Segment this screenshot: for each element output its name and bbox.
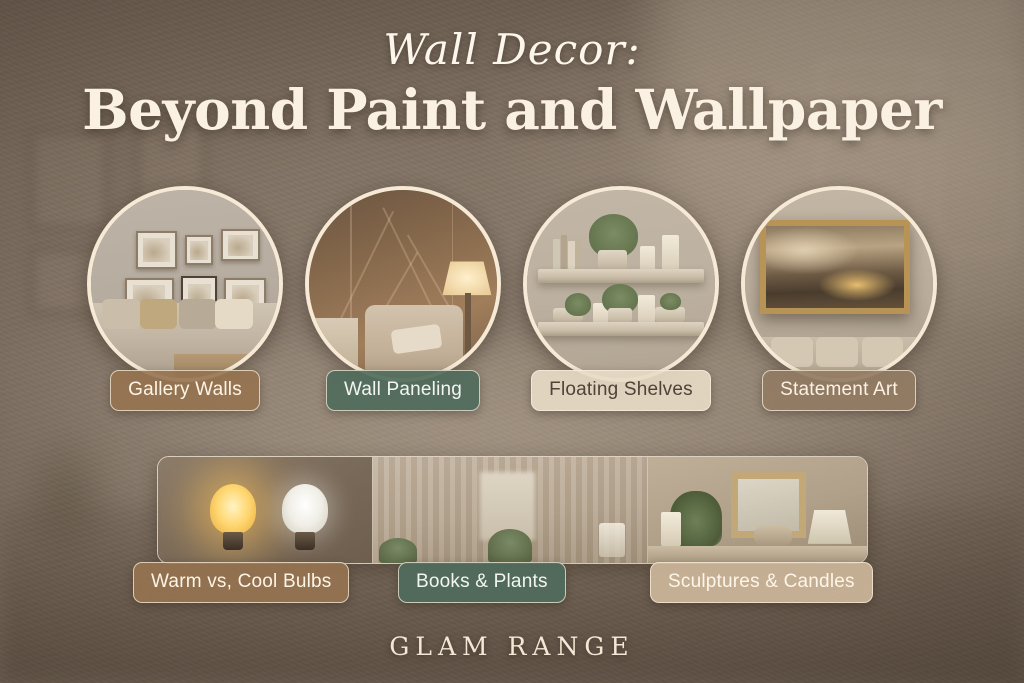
panel-card-row xyxy=(157,456,868,564)
circle-label-wall-paneling[interactable]: Wall Paneling xyxy=(326,370,480,411)
panel-card-books-and-plants[interactable] xyxy=(372,457,646,563)
circle-label-wrap: Floating Shelves xyxy=(531,370,711,411)
wood-paneled-wall-armchair-photo xyxy=(305,186,501,382)
brand-wordmark: GLAM RANGE xyxy=(0,632,1024,661)
gallery-wall-living-room-photo xyxy=(87,186,283,382)
sheer-curtains-window-plants-photo xyxy=(373,457,646,563)
floating-shelves-decor-photo xyxy=(523,186,719,382)
cool-bulb-icon xyxy=(282,484,328,550)
circle-label-floating-shelves[interactable]: Floating Shelves xyxy=(531,370,711,411)
circle-label-wrap: Gallery Walls xyxy=(110,370,260,411)
circle-card-gallery-walls[interactable]: Gallery Walls xyxy=(87,186,283,411)
panel-label-wrap: Warm vs, Cool Bulbs xyxy=(133,562,349,603)
panel-label-wrap: Books & Plants xyxy=(398,562,566,603)
circle-label-wrap: Wall Paneling xyxy=(326,370,480,411)
warm-and-cool-light-bulbs-photo xyxy=(158,457,372,563)
panel-card-sculptures-and-candles[interactable] xyxy=(647,457,867,563)
framed-landscape-painting-photo xyxy=(741,186,937,382)
panel-label-warm-vs-cool-bulbs[interactable]: Warm vs, Cool Bulbs xyxy=(133,562,349,603)
page-title: Wall Decor: Beyond Paint and Wallpaper xyxy=(0,28,1024,141)
circle-card-statement-art[interactable]: Statement Art xyxy=(741,186,937,411)
panel-card-warm-vs-cool-bulbs[interactable] xyxy=(158,457,372,563)
title-main-line: Beyond Paint and Wallpaper xyxy=(0,79,1024,141)
console-table-mirror-decor-photo xyxy=(648,457,867,563)
panel-label-books-and-plants[interactable]: Books & Plants xyxy=(398,562,566,603)
warm-bulb-icon xyxy=(210,484,256,550)
circle-label-gallery-walls[interactable]: Gallery Walls xyxy=(110,370,260,411)
panel-label-sculptures-and-candles[interactable]: Sculptures & Candles xyxy=(650,562,873,603)
circle-label-statement-art[interactable]: Statement Art xyxy=(762,370,916,411)
panel-label-wrap: Sculptures & Candles xyxy=(650,562,873,603)
circle-card-row: Gallery Walls xyxy=(0,186,1024,411)
circle-card-floating-shelves[interactable]: Floating Shelves xyxy=(523,186,719,411)
poster-canvas: Wall Decor: Beyond Paint and Wallpaper xyxy=(0,0,1024,683)
title-script-line: Wall Decor: xyxy=(0,28,1024,72)
circle-label-wrap: Statement Art xyxy=(762,370,916,411)
circle-card-wall-paneling[interactable]: Wall Paneling xyxy=(305,186,501,411)
